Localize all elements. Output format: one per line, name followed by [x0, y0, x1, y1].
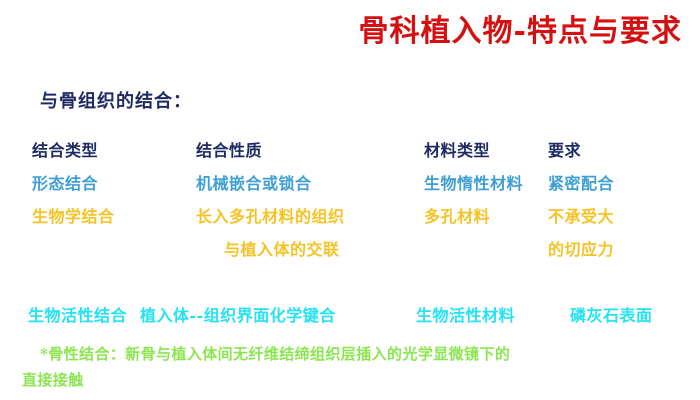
cell-requirement: 磷灰石表面 — [570, 305, 653, 327]
cell-nature: 长入多孔材料的组织 — [196, 206, 345, 228]
cell-type: 生物学结合 — [32, 206, 115, 228]
bonding-table: 结合类型 结合性质 材料类型 要求 形态结合 机械嵌合或锁合 生物惰性材料 紧密… — [0, 140, 700, 338]
table-header-row: 结合类型 结合性质 材料类型 要求 — [0, 140, 700, 173]
column-header-type: 结合类型 — [32, 140, 98, 162]
footnote: *骨性结合：新骨与植入体间无纤维结缔组织层插入的光学显微镜下的 直接接触 — [40, 341, 690, 393]
page-title: 骨科植入物-特点与要求 — [0, 14, 682, 50]
column-header-material: 材料类型 — [424, 140, 490, 162]
slide-canvas: 骨科植入物-特点与要求 与骨组织的结合： 结合类型 结合性质 材料类型 要求 形… — [0, 0, 700, 400]
footnote-line-2: 直接接触 — [22, 367, 690, 393]
cell-nature-continued: 与植入体的交联 — [224, 239, 340, 261]
cell-material: 生物活性材料 — [416, 305, 515, 327]
cell-requirement: 不承受大 — [548, 206, 614, 228]
cell-requirement-continued: 的切应力 — [548, 239, 614, 261]
table-row-continuation: 与植入体的交联 的切应力 — [0, 239, 700, 272]
cell-requirement: 紧密配合 — [548, 173, 614, 195]
cell-type: 生物活性结合 — [28, 305, 127, 327]
cell-nature: 植入体--组织界面化学键合 — [140, 305, 336, 327]
column-header-nature: 结合性质 — [196, 140, 262, 162]
table-row: 生物学结合 长入多孔材料的组织 多孔材料 不承受大 — [0, 206, 700, 239]
column-header-requirement: 要求 — [548, 140, 581, 162]
section-subheading: 与骨组织的结合： — [40, 90, 192, 114]
cell-material: 生物惰性材料 — [424, 173, 523, 195]
table-row-spacer — [0, 272, 700, 305]
footnote-line-1: *骨性结合：新骨与植入体间无纤维结缔组织层插入的光学显微镜下的 — [40, 341, 690, 367]
cell-type: 形态结合 — [32, 173, 98, 195]
table-row: 形态结合 机械嵌合或锁合 生物惰性材料 紧密配合 — [0, 173, 700, 206]
cell-material: 多孔材料 — [424, 206, 490, 228]
cell-nature: 机械嵌合或锁合 — [196, 173, 312, 195]
table-row: 生物活性结合 植入体--组织界面化学键合 生物活性材料 磷灰石表面 — [0, 305, 700, 338]
